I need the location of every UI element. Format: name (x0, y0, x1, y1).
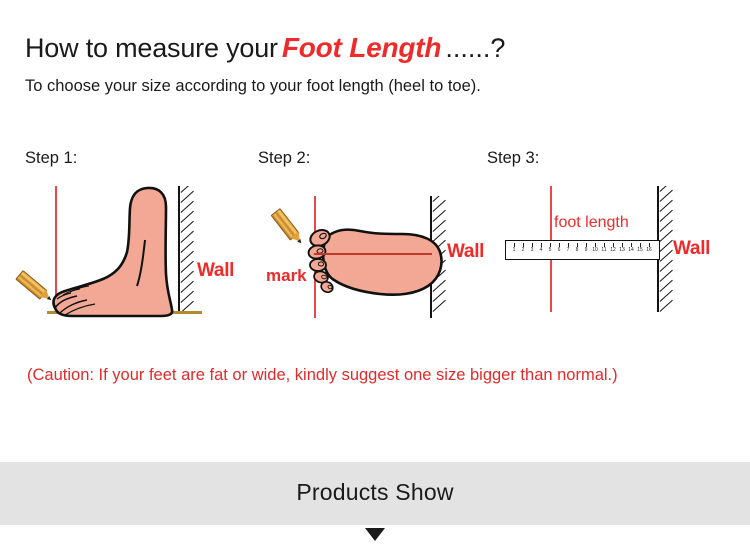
step-1-illustration: Wall (25, 174, 255, 329)
wall-label: Wall (673, 238, 710, 260)
page-title-dots: ......? (445, 33, 505, 63)
down-triangle-icon (365, 528, 385, 541)
products-show-title: Products Show (0, 479, 750, 506)
step-1-label: Step 1: (25, 148, 255, 168)
step-3-illustration: Wall foot length 1 2 3 4 5 6 7 8 9 10 11… (487, 174, 732, 329)
step-3-label: Step 3: (487, 148, 732, 168)
step-1: Step 1: Wall (25, 148, 255, 329)
ruler: 1 2 3 4 5 6 7 8 9 10 11 12 13 14 15 16 (505, 240, 660, 260)
foot-length-label: foot length (554, 214, 629, 232)
products-show-banner: Products Show (0, 462, 750, 525)
foot-measure-line (314, 253, 432, 255)
foot-top-view (304, 192, 489, 342)
page-title-accent: Foot Length (278, 32, 446, 63)
mark-label: mark (266, 266, 307, 286)
wall-hatching (659, 186, 674, 312)
page-title-plain: How to measure your (25, 33, 278, 63)
caution-text: (Caution: If your feet are fat or wide, … (27, 366, 618, 385)
page-title: How to measure yourFoot Length......? (25, 31, 505, 65)
foot-side-view (33, 180, 183, 320)
step-2-illustration: Wall mark (258, 174, 483, 329)
step-2: Step 2: Wall mark (258, 148, 483, 329)
wall-label: Wall (197, 260, 234, 282)
step-3: Step 3: Wall foot length 1 2 3 4 5 6 7 8… (487, 148, 732, 329)
page-subtitle: To choose your size according to your fo… (25, 76, 481, 97)
step-2-label: Step 2: (258, 148, 483, 168)
